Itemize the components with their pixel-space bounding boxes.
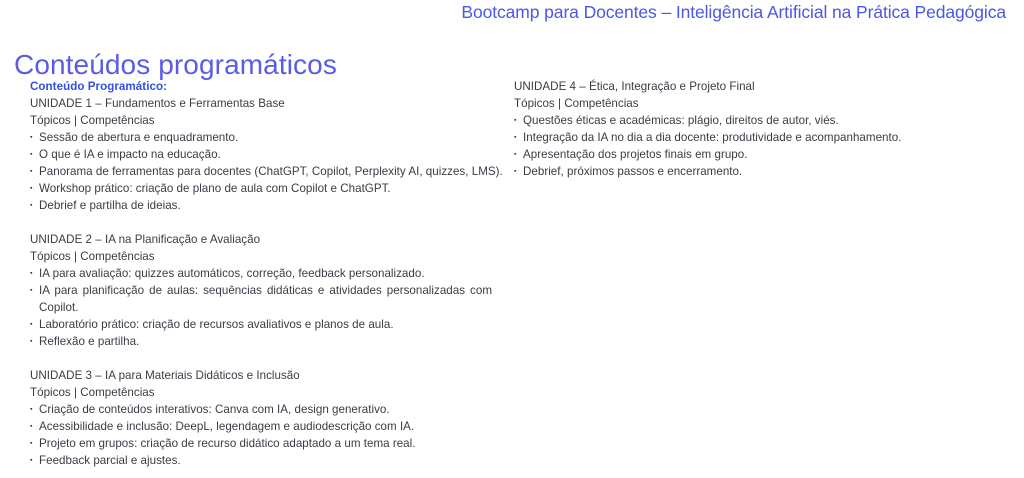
list-item: O que é IA e impacto na educação.: [30, 146, 492, 163]
section-heading: Conteúdo Programático:: [30, 78, 492, 95]
unit-heading: Tópicos | Competências: [30, 248, 492, 265]
unit-heading: UNIDADE 3 – IA para Materiais Didáticos …: [30, 367, 492, 384]
slide-header-text: Bootcamp para Docentes – Inteligência Ar…: [461, 4, 1006, 22]
unit-heading: UNIDADE 4 – Ética, Integração e Projeto …: [514, 78, 934, 95]
unit-heading: Tópicos | Competências: [30, 112, 492, 129]
unit-block: UNIDADE 3 – IA para Materiais Didáticos …: [30, 367, 492, 469]
list-item: Panorama de ferramentas para docentes (C…: [30, 163, 492, 180]
list-item: Projeto em grupos: criação de recurso di…: [30, 435, 492, 452]
page-title: Conteúdos programáticos: [14, 47, 337, 82]
list-item: Workshop prático: criação de plano de au…: [30, 180, 492, 197]
list-item: Debrief, próximos passos e encerramento.: [514, 163, 934, 180]
unit-heading: Tópicos | Competências: [514, 95, 934, 112]
list-item: Acessibilidade e inclusão: DeepL, legend…: [30, 418, 492, 435]
unit-block: UNIDADE 2 – IA na Planificação e Avaliaç…: [30, 231, 492, 350]
slide-content-area: Conteúdo Programático:UNIDADE 1 – Fundam…: [0, 78, 1024, 478]
unit-block: Conteúdo Programático:UNIDADE 1 – Fundam…: [30, 78, 492, 214]
list-item: IA para planificação de aulas: sequência…: [30, 282, 492, 316]
list-item: Debrief e partilha de ideias.: [30, 197, 492, 214]
list-item: Reflexão e partilha.: [30, 333, 492, 350]
list-item: Sessão de abertura e enquadramento.: [30, 129, 492, 146]
list-item: Integração da IA no dia a dia docente: p…: [514, 129, 934, 146]
slide-running-header: Bootcamp para Docentes – Inteligência Ar…: [0, 0, 1006, 26]
content-column-left: Conteúdo Programático:UNIDADE 1 – Fundam…: [30, 78, 492, 469]
unit-heading: Tópicos | Competências: [30, 384, 492, 401]
content-column-right: UNIDADE 4 – Ética, Integração e Projeto …: [514, 78, 934, 180]
list-item: IA para avaliação: quizzes automáticos, …: [30, 265, 492, 282]
list-item: Feedback parcial e ajustes.: [30, 452, 492, 469]
list-item: Questões éticas e académicas: plágio, di…: [514, 112, 934, 129]
list-item: Laboratório prático: criação de recursos…: [30, 316, 492, 333]
unit-block: UNIDADE 4 – Ética, Integração e Projeto …: [514, 78, 934, 180]
list-item: Apresentação dos projetos finais em grup…: [514, 146, 934, 163]
unit-heading: UNIDADE 2 – IA na Planificação e Avaliaç…: [30, 231, 492, 248]
list-item: Criação de conteúdos interativos: Canva …: [30, 401, 492, 418]
unit-heading: UNIDADE 1 – Fundamentos e Ferramentas Ba…: [30, 95, 492, 112]
